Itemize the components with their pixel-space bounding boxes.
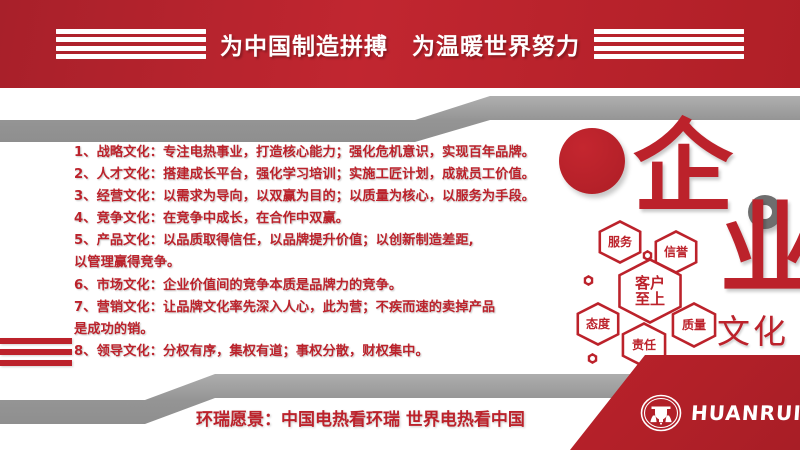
huanrui-emblem-icon xyxy=(640,392,682,434)
list-item: 6、市场文化：企业价值间的竞争本质是品牌力的竞争。 xyxy=(74,275,544,297)
culture-list: 1、战略文化：专注电热事业，打造核心能力；强化危机意识，实现百年品牌。 2、人才… xyxy=(74,142,544,363)
list-item: 4、竞争文化：在竞争中成长，在合作中双赢。 xyxy=(74,208,544,230)
header-slogan: 为中国制造拼搏 为温暖世界努力 xyxy=(220,27,580,61)
hex-badge-taidu-label: 态度 xyxy=(576,305,620,343)
hex-badge-fuwu: 服务 xyxy=(595,220,645,264)
brand-logo: HUANRUI xyxy=(640,392,800,434)
header-right-lines-icon xyxy=(594,29,744,59)
hex-badge-zhiliang-label: 质量 xyxy=(671,305,717,345)
hexagon-badge-cluster: 服务 信誉 客户 至上 态度 责任 质量 xyxy=(555,110,800,365)
header-inner: 为中国制造拼搏 为温暖世界努力 xyxy=(56,27,744,61)
list-item: 2、人才文化：搭建成长平台，强化学习培训；实施工匠计划，成就员工价值。 xyxy=(74,164,544,186)
footer-vision-text: 环瑞愿景：中国电热看环瑞 世界电热看中国 xyxy=(196,405,525,430)
hex-badge-taidu: 态度 xyxy=(573,302,623,346)
brand-wordmark: HUANRUI xyxy=(690,401,800,425)
list-item-continuation: 以管理赢得竞争。 xyxy=(74,252,544,274)
hex-dot-decoration xyxy=(587,353,598,364)
hex-badge-fuwu-label: 服务 xyxy=(598,223,642,261)
left-stripes-decoration xyxy=(0,338,72,371)
list-item: 5、产品文化：以品质取得信任，以品牌提升价值；以创新制造差距, xyxy=(74,230,544,252)
list-item: 1、战略文化：专注电热事业，打造核心能力；强化危机意识，实现百年品牌。 xyxy=(74,142,544,164)
header-banner: 为中国制造拼搏 为温暖世界努力 xyxy=(0,0,800,88)
hex-dot-decoration xyxy=(583,275,594,286)
poster-canvas: 为中国制造拼搏 为温暖世界努力 1、战略文化：专注电热事业，打造核心能力；强化危… xyxy=(0,0,800,450)
list-item: 7、营销文化：让品牌文化率先深入人心，此为营；不疾而速的卖掉产品 xyxy=(74,297,544,319)
list-item: 3、经营文化：以需求为导向，以双赢为目的；以质量为核心，以服务为手段。 xyxy=(74,186,544,208)
list-item: 8、领导文化：分权有序，集权有道；事权分散，财权集中。 xyxy=(74,341,544,363)
list-item-continuation: 是成功的销。 xyxy=(74,319,544,341)
corporate-culture-graphic: 企 业 文化 服务 信誉 客户 至上 态度 责任 质量 xyxy=(555,110,800,365)
header-left-lines-icon xyxy=(56,29,206,59)
